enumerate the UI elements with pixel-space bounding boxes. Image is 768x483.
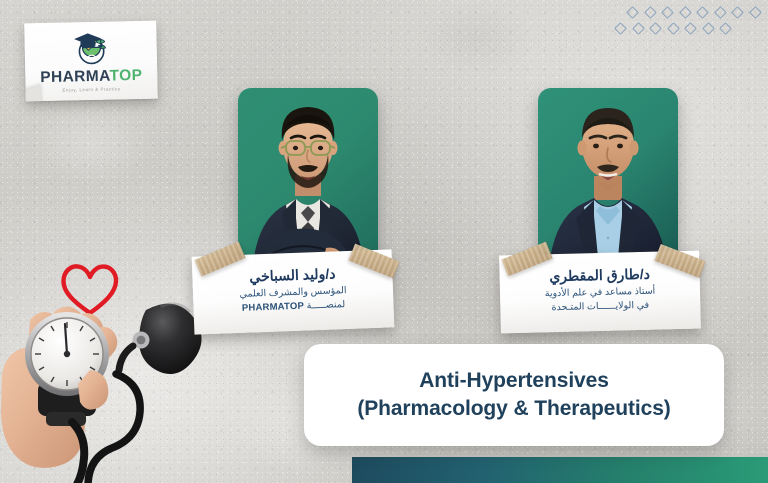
speaker-photo-card-right [538,88,678,278]
speaker-role-left-brand: PHARMATOP [242,301,305,314]
diamond-icon [649,22,662,35]
diamond-icon [679,6,692,19]
graduation-cap-mortar-pestle-icon [71,30,110,67]
lecture-title-line2: (Pharmacology & Therapeutics) [357,395,670,423]
diamond-icon [632,22,645,35]
pharmatop-logo-badge: PHARMATOP Enjoy, Learn & Practice [24,21,158,102]
diamond-icon [626,6,639,19]
bottom-accent-band [352,457,768,483]
speaker-role-left-prefix: لمنصـــــة [306,299,345,311]
speaker-name-left: د/وليد السباخي [249,266,336,285]
diamond-icon [667,22,680,35]
diamond-pattern-decoration [628,8,764,50]
logo-wordmark: PHARMATOP [40,67,142,85]
diamond-icon [661,6,674,19]
diamond-icon [644,6,657,19]
diamond-row-2 [616,24,764,33]
speaker-role-right-line2: في الولايــــــات المتـحدة [551,299,649,315]
logo-tagline: Enjoy, Learn & Practice [62,86,120,92]
diamond-icon [714,6,727,19]
lecture-title: Anti-Hypertensives (Pharmacology & Thera… [357,367,670,422]
lecture-title-card: Anti-Hypertensives (Pharmacology & Thera… [304,344,724,446]
sphygmomanometer-gauge-icon [0,262,224,483]
diamond-icon [731,6,744,19]
diamond-icon [702,22,715,35]
portrait-speaker-right [538,88,678,278]
speaker-name-right: د/طارق المقطري [549,266,650,285]
diamond-icon [749,6,762,19]
logo-word-top: TOP [109,66,142,84]
diamond-row-1 [628,8,764,17]
logo-word-pharma: PHARMA [40,67,110,85]
speaker-role-left-line2: لمنصـــــة PHARMATOP [242,298,346,316]
diamond-icon [614,22,627,35]
diamond-icon [684,22,697,35]
poster-canvas: PHARMATOP Enjoy, Learn & Practice [0,0,768,483]
lecture-title-line1: Anti-Hypertensives [419,369,609,392]
diamond-icon [719,22,732,35]
diamond-icon [696,6,709,19]
